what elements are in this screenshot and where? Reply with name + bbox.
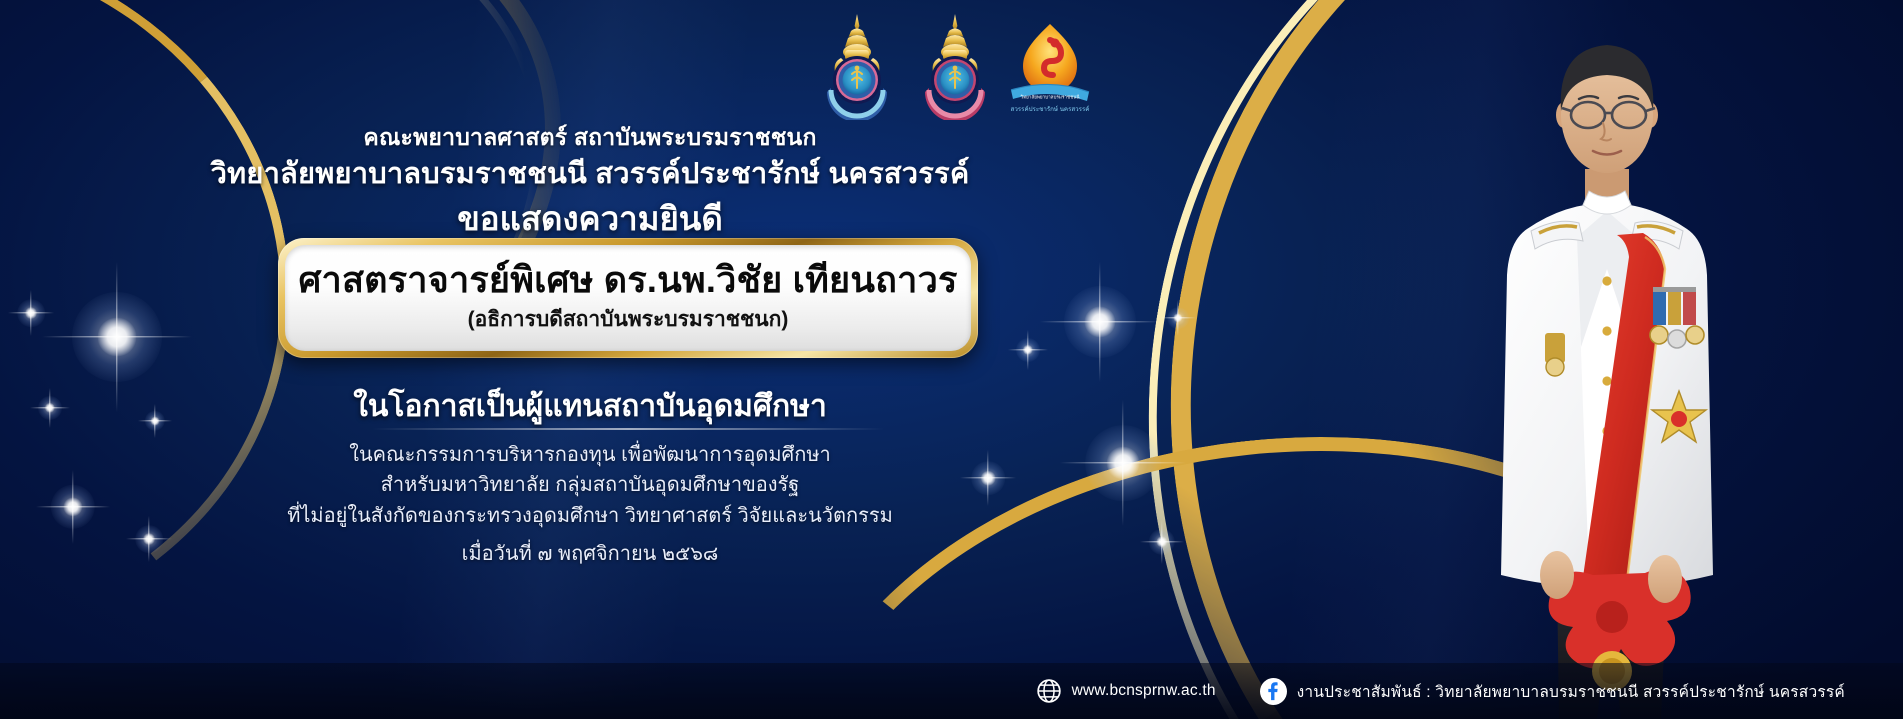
event-date: เมื่อวันที่ ๗ พฤศจิกายน ๒๕๖๘ <box>0 539 1180 569</box>
occasion-details: ในคณะกรรมการบริหารกองทุน เพื่อพัฒนาการอุ… <box>0 440 1180 570</box>
facebook-page-name: งานประชาสัมพันธ์ : วิทยาลัยพยาบาลบรมราชช… <box>1297 679 1845 704</box>
facebook-group[interactable]: งานประชาสัมพันธ์ : วิทยาลัยพยาบาลบรมราชช… <box>1260 678 1845 705</box>
congratulations-banner: วิทยาลัยพยาบาลบรมราชชนนี สวรรค์ประชารักษ… <box>0 0 1903 719</box>
detail-line-2: สำหรับมหาวิทยาลัย กลุ่มสถาบันอุดมศึกษาขอ… <box>0 470 1180 500</box>
footer-bar: www.bcnsprnw.ac.th งานประชาสัมพันธ์ : วิ… <box>0 663 1903 719</box>
website-url: www.bcnsprnw.ac.th <box>1072 682 1216 700</box>
facebook-icon <box>1260 678 1287 705</box>
honoree-plaque-inner: ศาสตราจารย์พิเศษ ดร.นพ.วิชัย เทียนถาวร (… <box>285 245 971 351</box>
section-divider <box>372 428 884 430</box>
occasion-headline: ในโอกาสเป็นผู้แทนสถาบันอุดมศึกษา <box>0 383 1180 430</box>
detail-line-1: ในคณะกรรมการบริหารกองทุน เพื่อพัฒนาการอุ… <box>0 440 1180 470</box>
website-group[interactable]: www.bcnsprnw.ac.th <box>1036 678 1216 704</box>
honoree-name: ศาสตราจารย์พิเศษ ดร.นพ.วิชัย เทียนถาวร <box>298 260 957 300</box>
org-line-2: วิทยาลัยพยาบาลบรมราชชนนี สวรรค์ประชารักษ… <box>0 150 1180 196</box>
detail-line-3: ที่ไม่อยู่ในสังกัดของกระทรวงอุดมศึกษา วิ… <box>0 501 1180 531</box>
content-column: คณะพยาบาลศาสตร์ สถาบันพระบรมราชชนก วิทยา… <box>0 0 1180 719</box>
honoree-plaque: ศาสตราจารย์พิเศษ ดร.นพ.วิชัย เทียนถาวร (… <box>278 238 978 358</box>
honoree-position: (อธิการบดีสถาบันพระบรมราชชนก) <box>468 303 789 336</box>
globe-icon <box>1036 678 1062 704</box>
